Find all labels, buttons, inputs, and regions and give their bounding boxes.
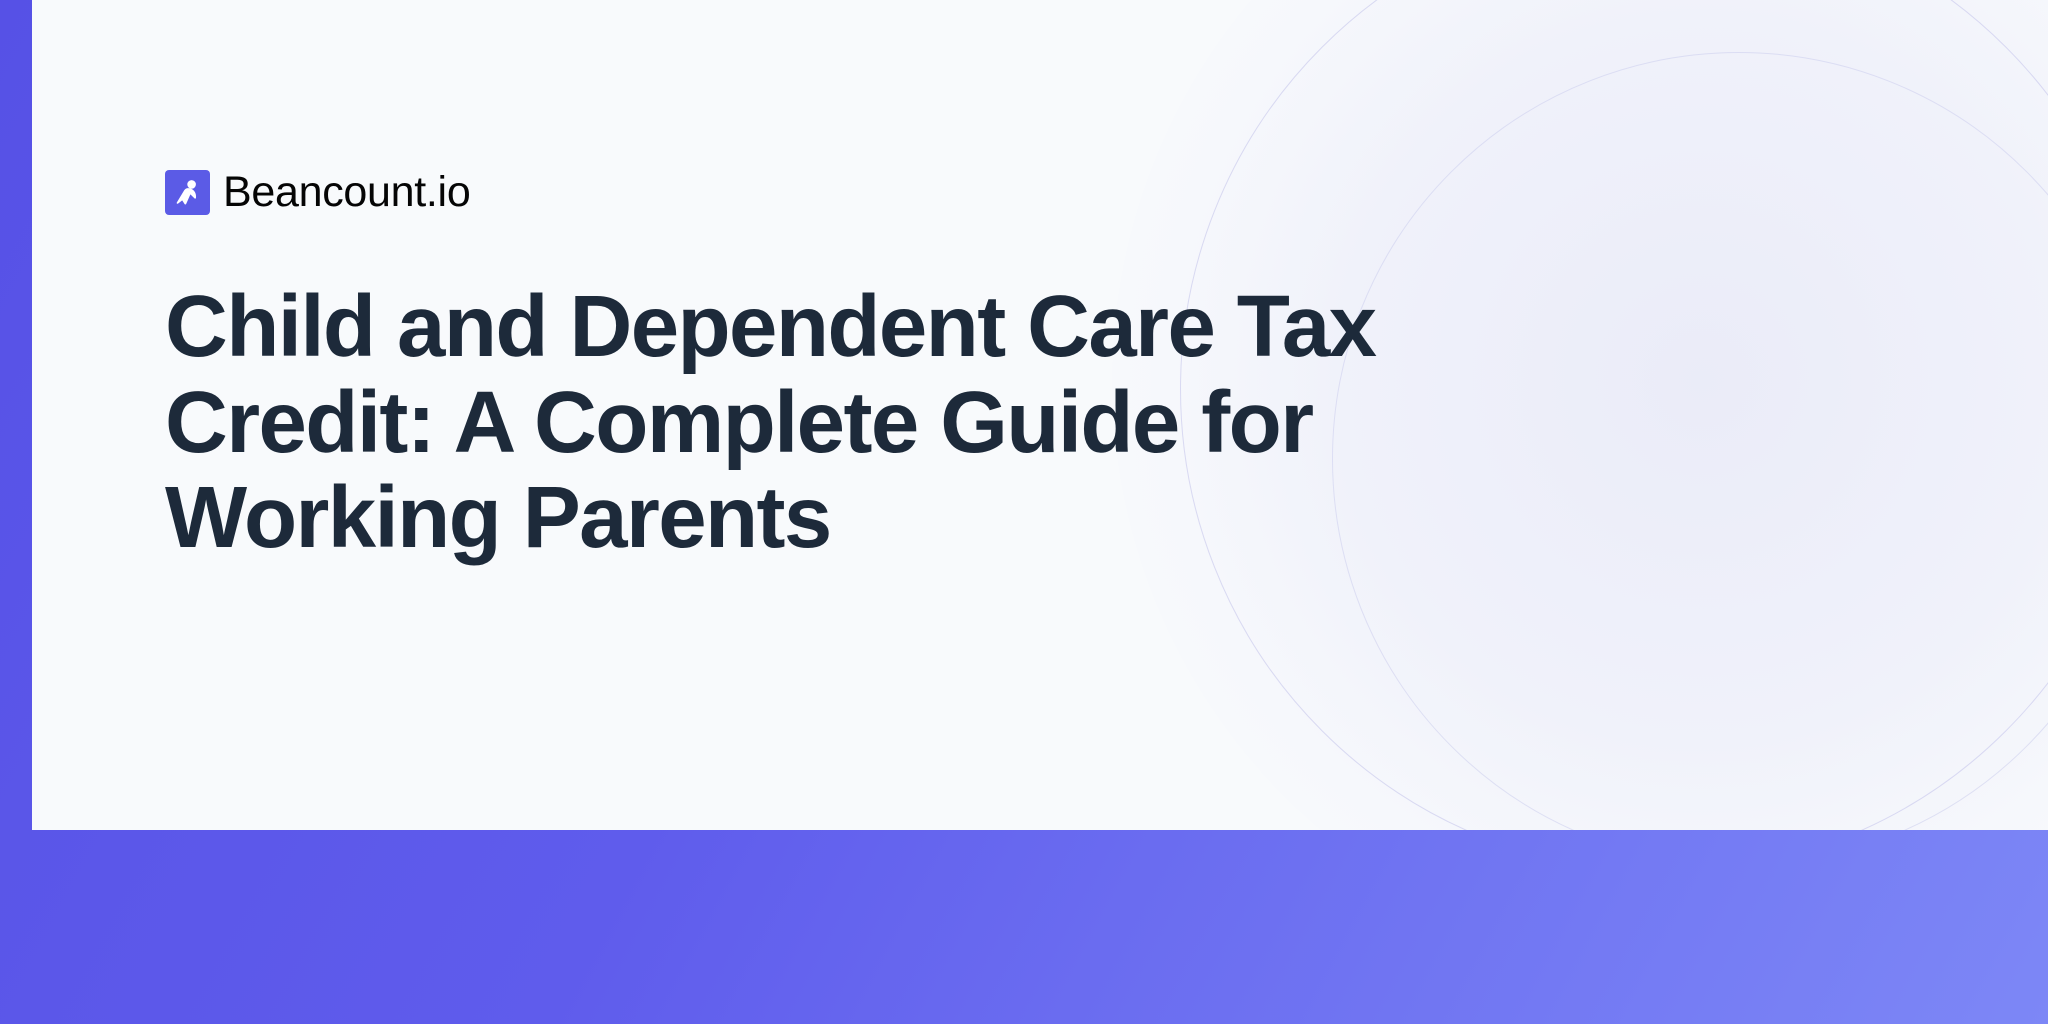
- brand-lockup[interactable]: Beancount.io: [165, 170, 1725, 215]
- brand-name: Beancount.io: [223, 171, 470, 214]
- page-title: Child and Dependent Care Tax Credit: A C…: [165, 279, 1665, 566]
- hero-card: Beancount.io Child and Dependent Care Ta…: [32, 0, 2048, 830]
- leaping-figure-icon: [165, 170, 210, 215]
- hero-content: Beancount.io Child and Dependent Care Ta…: [165, 170, 1725, 566]
- hero-canvas: Beancount.io Child and Dependent Care Ta…: [0, 0, 2048, 1024]
